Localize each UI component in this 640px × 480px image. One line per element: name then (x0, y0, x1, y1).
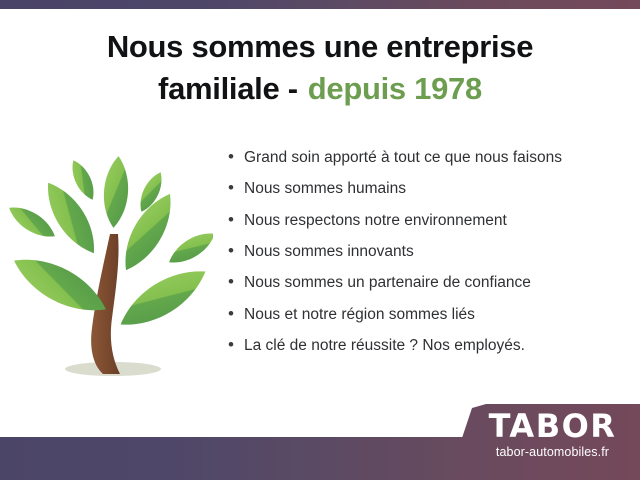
bullet-icon: • (228, 179, 244, 196)
headline-line-2-accent: depuis 1978 (308, 71, 482, 106)
tree-illustration (8, 150, 213, 385)
bullet-icon: • (228, 273, 244, 290)
top-accent-bar (0, 0, 640, 9)
list-item: • Nous respectons notre environnement (228, 211, 628, 230)
list-item: • Nous sommes innovants (228, 242, 628, 261)
brand-wordmark: TABOR (470, 410, 635, 442)
benefits-list: • Grand soin apporté à tout ce que nous … (228, 148, 628, 367)
tree-svg (8, 150, 213, 385)
headline-line-2-plain: familiale - (158, 71, 298, 106)
bullet-icon: • (228, 242, 244, 259)
list-item-label: La clé de notre réussite ? Nos employés. (244, 337, 525, 355)
bullet-icon: • (228, 211, 244, 228)
headline-line-1: Nous sommes une entreprise (107, 29, 533, 64)
list-item-label: Nous respectons notre environnement (244, 212, 507, 230)
brand-url: tabor-automobiles.fr (470, 446, 635, 459)
list-item: • Nous sommes humains (228, 179, 628, 198)
slide-canvas: Nous sommes une entreprise familiale -de… (0, 0, 640, 480)
list-item-label: Nous sommes un partenaire de confiance (244, 274, 531, 292)
list-item-label: Grand soin apporté à tout ce que nous fa… (244, 149, 562, 167)
list-item: • La clé de notre réussite ? Nos employé… (228, 336, 628, 355)
list-item-label: Nous sommes humains (244, 180, 406, 198)
list-item-label: Nous et notre région sommes liés (244, 306, 475, 324)
bullet-icon: • (228, 148, 244, 165)
list-item: • Grand soin apporté à tout ce que nous … (228, 148, 628, 167)
brand-logo: TABOR tabor-automobiles.fr (470, 410, 635, 459)
page-title: Nous sommes une entreprise familiale -de… (0, 26, 640, 110)
list-item: • Nous sommes un partenaire de confiance (228, 273, 628, 292)
list-item-label: Nous sommes innovants (244, 243, 414, 261)
bullet-icon: • (228, 305, 244, 322)
list-item: • Nous et notre région sommes liés (228, 305, 628, 324)
bullet-icon: • (228, 336, 244, 353)
